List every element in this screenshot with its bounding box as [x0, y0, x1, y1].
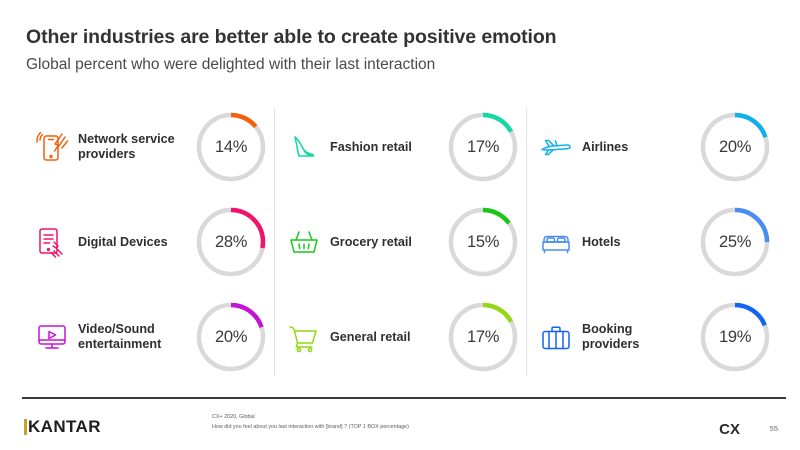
metric-donut: 17% [444, 299, 522, 375]
footer-divider [22, 397, 786, 399]
suitcase-icon [530, 318, 582, 356]
metric-label: Hotels [582, 235, 696, 250]
metric-label: Grocery retail [330, 235, 444, 250]
high-heel-shoe-icon [278, 128, 330, 166]
metric-donut: 20% [696, 109, 774, 185]
metric-label: Airlines [582, 140, 696, 155]
source-note-line-1: CX+ 2020, Global [212, 412, 409, 422]
metric-value: 17% [445, 299, 521, 375]
mobile-phone-hand-icon [26, 128, 78, 166]
metric-label: Video/Sound entertainment [78, 322, 192, 351]
metric-row: Video/Sound entertainment 20% [26, 294, 270, 380]
metric-label: General retail [330, 330, 444, 345]
slide-header: Other industries are better able to crea… [26, 26, 774, 75]
monitor-play-icon [26, 318, 78, 356]
shopping-basket-icon [278, 223, 330, 261]
airplane-icon [530, 128, 582, 166]
kantar-logo-accent-bar [24, 419, 27, 435]
metric-value: 17% [445, 109, 521, 185]
bed-icon [530, 223, 582, 261]
metric-donut: 14% [192, 109, 270, 185]
kantar-logo: KANTAR [24, 417, 101, 437]
metric-row: Network service providers 14% [26, 104, 270, 190]
kantar-logo-text: KANTAR [28, 417, 101, 437]
metrics-column-telecom-and-tech: Network service providers 14% [22, 104, 274, 380]
slide-footer: KANTAR CX+ 2020, Global How did you feel… [0, 404, 800, 450]
metric-value: 20% [193, 299, 269, 375]
metric-donut: 17% [444, 109, 522, 185]
metric-donut: 20% [192, 299, 270, 375]
metric-value: 28% [193, 204, 269, 280]
metric-row: Airlines 20% [530, 104, 774, 190]
metric-row: Hotels 25% [530, 199, 774, 285]
metric-value: 20% [697, 109, 773, 185]
metrics-column-retail: Fashion retail 17% [274, 104, 526, 380]
page-number: 55 [770, 424, 778, 433]
metric-label: Digital Devices [78, 235, 192, 250]
shopping-cart-icon [278, 318, 330, 356]
metrics-grid: Network service providers 14% [22, 104, 778, 380]
metric-row: General retail 17% [278, 294, 522, 380]
metrics-column-travel: Airlines 20% [526, 104, 778, 380]
metric-row: Booking providers 19% [530, 294, 774, 380]
metric-value: 19% [697, 299, 773, 375]
metric-label: Network service providers [78, 132, 192, 161]
metric-label: Fashion retail [330, 140, 444, 155]
metric-row: Fashion retail 17% [278, 104, 522, 190]
page-title: Other industries are better able to crea… [26, 26, 774, 49]
slide: Other industries are better able to crea… [0, 0, 800, 450]
metric-value: 14% [193, 109, 269, 185]
metric-donut: 19% [696, 299, 774, 375]
source-note: CX+ 2020, Global How did you feel about … [212, 412, 409, 432]
metric-value: 25% [697, 204, 773, 280]
metric-row: Digital Devices 28% [26, 199, 270, 285]
tablet-hand-icon [26, 223, 78, 261]
page-subtitle: Global percent who were delighted with t… [26, 56, 774, 75]
source-note-line-2: How did you feel about you last interact… [212, 422, 409, 432]
metric-donut: 25% [696, 204, 774, 280]
metric-row: Grocery retail 15% [278, 199, 522, 285]
metric-donut: 15% [444, 204, 522, 280]
metric-value: 15% [445, 204, 521, 280]
cx-logo: CX [719, 421, 740, 438]
metric-donut: 28% [192, 204, 270, 280]
metric-label: Booking providers [582, 322, 696, 351]
